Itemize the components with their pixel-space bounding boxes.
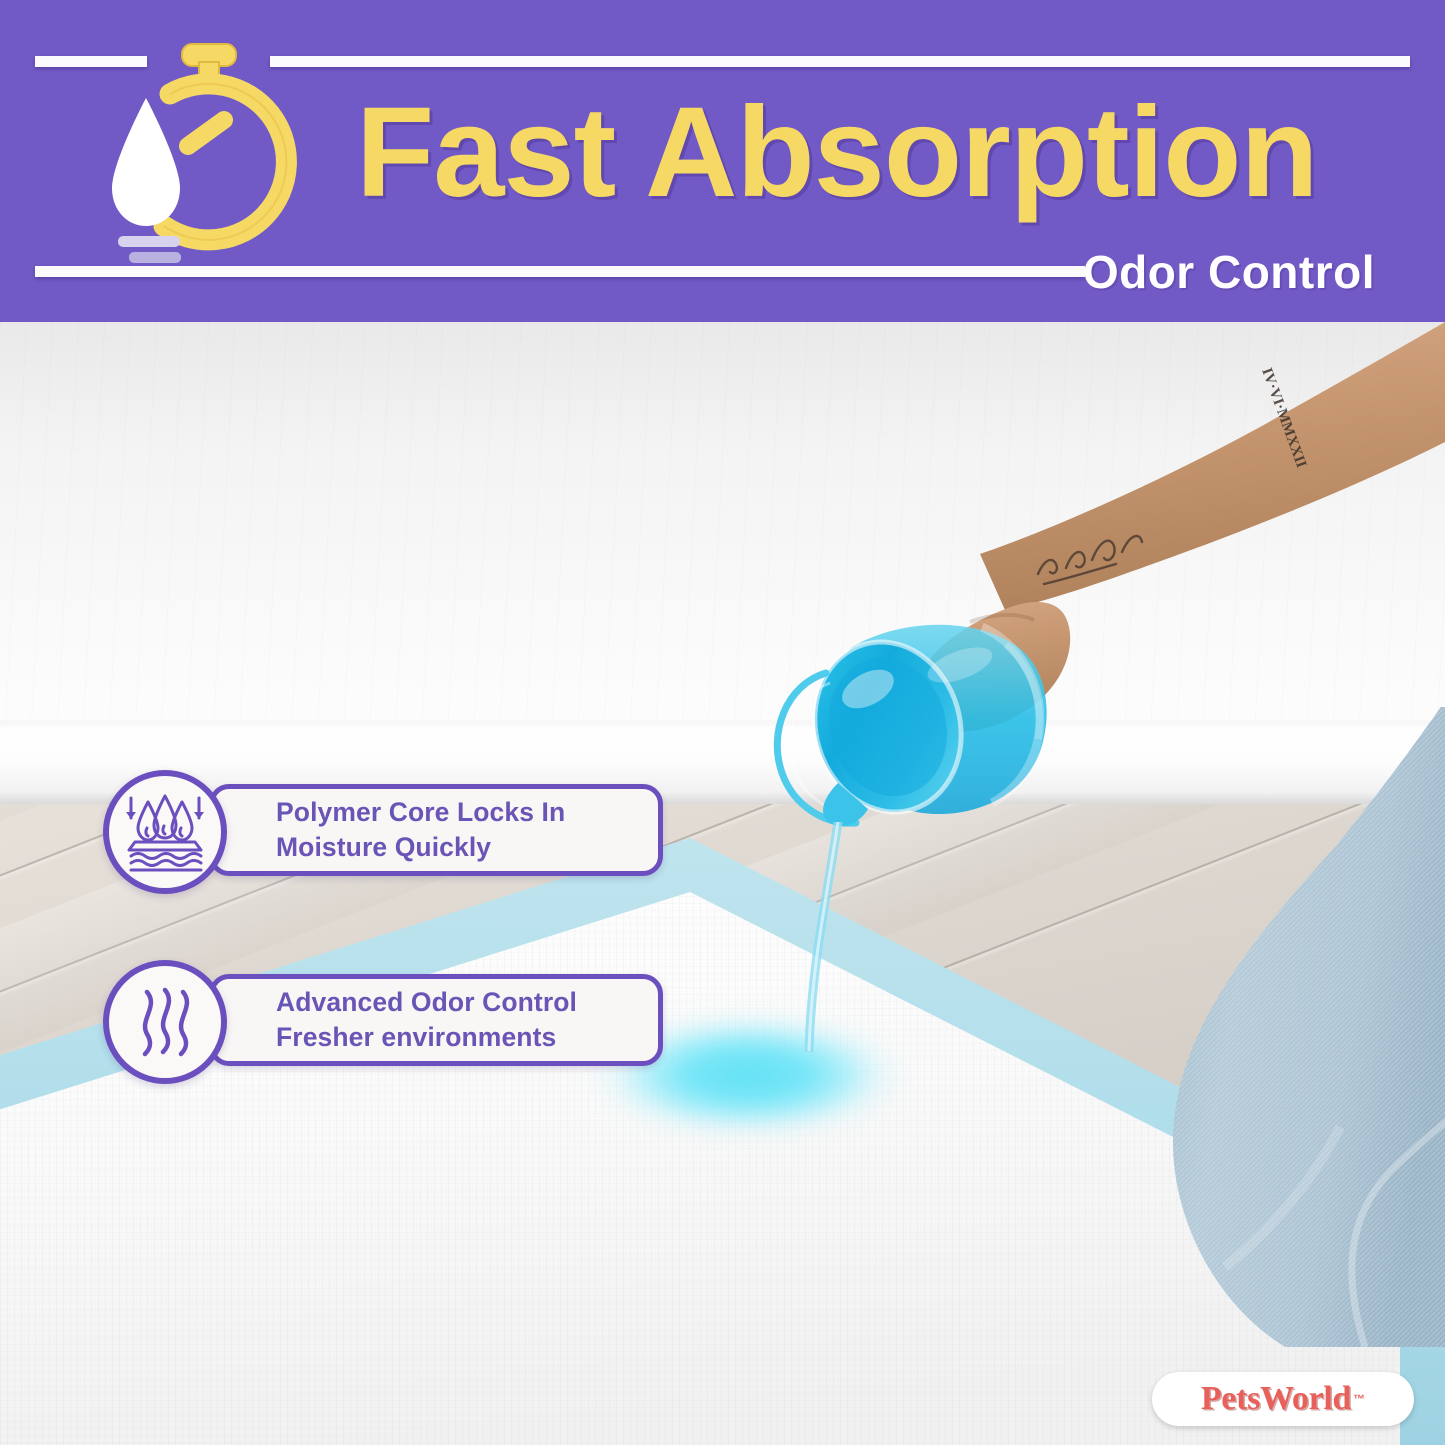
feature-callout-box: Polymer Core Locks In Moisture Quickly (209, 784, 663, 876)
measuring-cup (760, 587, 1090, 857)
stopwatch-droplet-icon (96, 36, 326, 266)
feature-line-1: Advanced Odor Control (276, 985, 658, 1020)
feature-callout-odor[interactable]: Advanced Odor Control Fresher environmen… (103, 960, 663, 1080)
product-infographic: Fast Absorption Odor Control (0, 0, 1445, 1445)
feature-line-1: Polymer Core Locks In (276, 795, 658, 830)
header-rule-bottom (35, 266, 1085, 277)
header-subtitle: Odor Control (1083, 245, 1375, 299)
trademark-symbol: ™ (1353, 1392, 1365, 1406)
feature-callout-box: Advanced Odor Control Fresher environmen… (209, 974, 663, 1066)
brand-logo: PetsWorld ™ (1152, 1372, 1414, 1426)
odor-waves-icon (103, 960, 227, 1084)
header-rule-long (270, 56, 1410, 67)
absorbent-layer-icon (103, 770, 227, 894)
product-photo: IV·VI·MMXXII (0, 322, 1445, 1445)
pouring-liquid-stream (790, 822, 880, 1052)
feature-callout-absorption[interactable]: Polymer Core Locks In Moisture Quickly (103, 770, 663, 890)
page-title: Fast Absorption (356, 84, 1386, 224)
person-knee-jeans (1165, 707, 1445, 1347)
feature-line-2: Fresher environments (276, 1020, 658, 1055)
feature-line-2: Moisture Quickly (276, 830, 658, 865)
brand-name: PetsWorld (1201, 1380, 1351, 1418)
header-banner: Fast Absorption Odor Control (0, 0, 1445, 322)
